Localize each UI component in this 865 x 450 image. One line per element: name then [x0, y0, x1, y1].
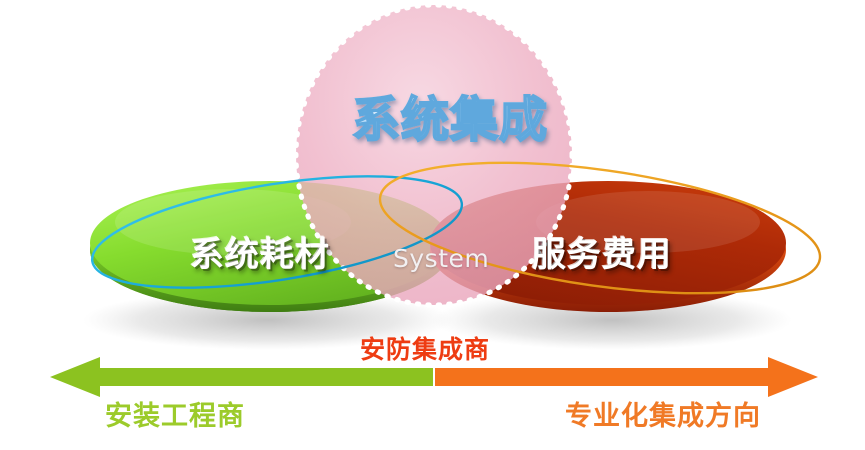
left-ellipse-label: 系统耗材 — [190, 238, 330, 272]
arrow-right-icon — [435, 357, 818, 397]
overlap-label: System — [393, 246, 489, 271]
diagram-canvas: 系统集成 系统耗材 服务费用 System 安防集成商 安装工程商 专业化集成方… — [0, 0, 865, 450]
left-caption: 安装工程商 — [105, 403, 245, 430]
right-caption: 专业化集成方向 — [565, 403, 761, 430]
right-ellipse-label: 服务费用 — [532, 238, 672, 272]
center-title: 系统集成 — [352, 96, 548, 144]
arrow-caption: 安防集成商 — [360, 337, 490, 362]
direction-arrow-bar — [0, 0, 865, 450]
